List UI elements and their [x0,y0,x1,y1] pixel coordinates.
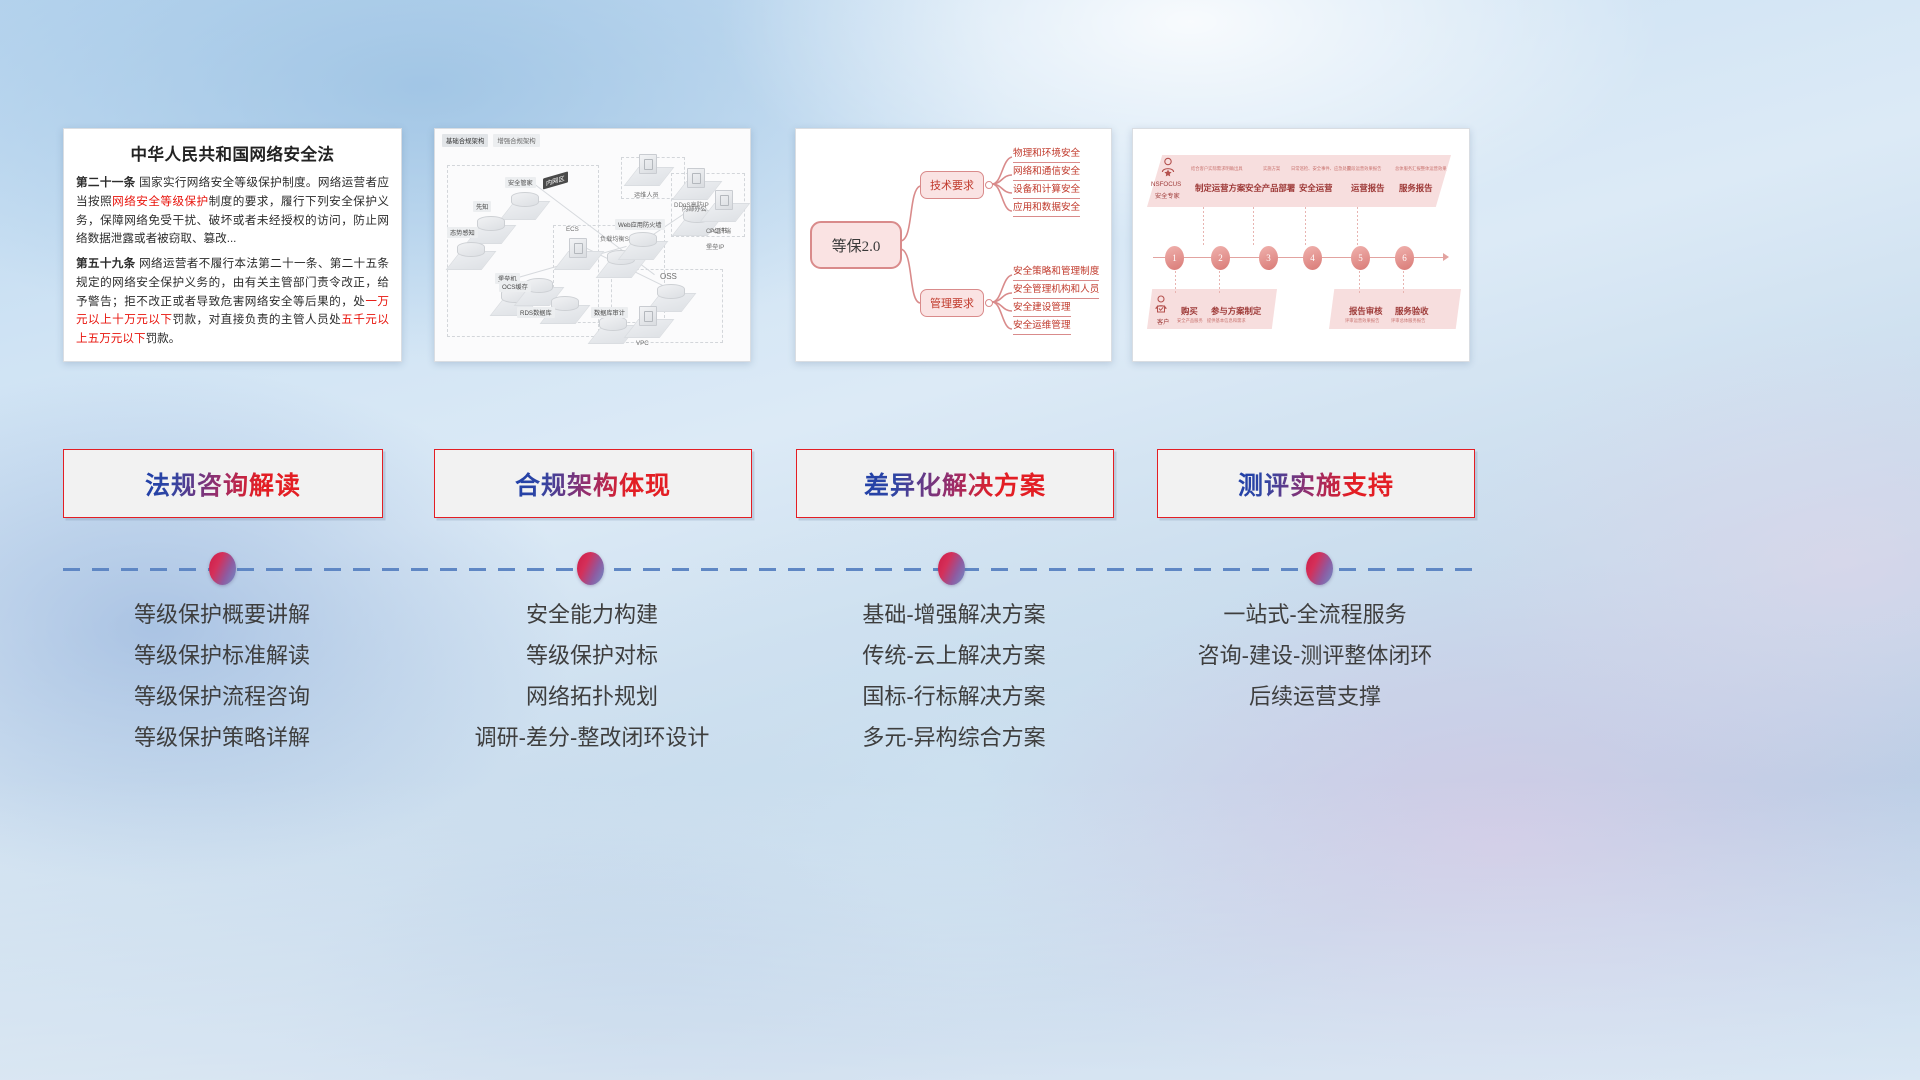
timeline-dot-1[interactable] [577,552,604,585]
arch-node-label: 安全管家 [505,177,536,188]
nsfocus-step-number[interactable]: 2 [1211,246,1230,270]
arch-node-oss: OSS [653,293,689,312]
arch-node-label: ECS [563,225,582,234]
nsfocus-step-sub: 总体服务汇报整体运营效果 [1395,166,1447,172]
nsfocus-step-main: 安全产品部署 [1245,182,1295,194]
arch-node-slb: 负载均衡SLB [603,259,639,278]
expert-person-icon [1159,157,1177,177]
arch-node-rds: RDS数据库 [547,305,583,324]
mindmap-leaf: 安全策略和管理制度 [1013,266,1099,281]
mindmap-branch-management[interactable]: 管理要求 [920,289,984,317]
pillar-title-box-1[interactable]: 合规架构体现 [434,449,752,518]
law-article-21-label: 第二十一条 [76,176,136,189]
law-article-59: 第五十九条 网络运营者不履行本法第二十一条、第二十五条规定的网络安全保护义务的，… [76,255,389,349]
arch-node-taishiganzhi: 态势感知 [453,251,489,270]
list-item: 调研-差分-整改闭环设计 [434,727,750,749]
mindmap-collapse-dot-management[interactable] [985,299,993,307]
mindmap-leaf: 设备和计算安全 [1013,184,1080,199]
architecture-tab-basic[interactable]: 基础合规架构 [442,134,488,147]
nsfocus-tick [1203,207,1204,247]
law-article-21: 第二十一条 国家实行网络安全等级保护制度。网络运营者应当按照网络安全等级保护制度… [76,174,389,249]
card-nsfocus-operation-flow[interactable]: NSFOCUS 安全专家 结合客户实际需求明确出具 制定运营方案 实施方案 安全… [1132,128,1470,362]
pillar-items-column-1: 安全能力构建 等级保护对标 网络拓扑规划 调研-差分-整改闭环设计 [434,604,750,768]
nsfocus-tick [1219,271,1220,293]
nsfocus-step-number[interactable]: 3 [1259,246,1278,270]
mindmap-leaf: 物理和环境安全 [1013,148,1080,163]
nsfocus-step-main: 服务报告 [1399,182,1433,194]
list-item: 传统-云上解决方案 [796,645,1112,667]
nsfocus-tick [1359,271,1360,293]
nsfocus-customer-label: 客户 [1157,317,1169,326]
timeline-dot-0[interactable] [209,552,236,585]
list-item: 一站式-全流程服务 [1157,604,1473,626]
nsfocus-step-number[interactable]: 6 [1395,246,1414,270]
mindmap-leaf: 安全运维管理 [1013,320,1071,335]
arch-node-label: 运维人员 [631,189,662,200]
mindmap-leaf: 应用和数据安全 [1013,202,1080,217]
pillar-title-text: 法规咨询解读 [145,466,301,502]
arch-node-office: 内部办公 [679,181,715,200]
arch-node-label: 内部办公 [679,203,710,214]
arch-node-anquanguanjia: 安全管家 [507,201,543,220]
list-item: 基础-增强解决方案 [796,604,1112,626]
nsfocus-top-band [1147,155,1451,207]
nsfocus-brand-line-2: 安全专家 [1155,191,1180,200]
mindmap-branch-technical[interactable]: 技术要求 [920,171,984,199]
timeline-dot-3[interactable] [1306,552,1333,585]
arch-node-label: Web应用防火墙 [615,219,665,230]
nsfocus-bottom-main: 服务验收 [1395,305,1429,317]
pillar-title-text: 合规架构体现 [515,466,671,502]
nsfocus-timeline-arrow-icon [1443,253,1449,261]
nsfocus-bottom-main: 购买 [1181,305,1198,317]
arch-node-label: 先知 [473,201,491,212]
arch-node-xianzhi: 先知 [473,225,509,244]
pillar-items-column-3: 一站式-全流程服务 咨询-建设-测评整体闭环 后续运营支撑 [1157,604,1473,727]
nsfocus-bottom-sub: 提供基本信息和需求 [1207,318,1246,324]
law-article-21-highlight: 网络安全等级保护 [112,195,208,208]
list-item: 网络拓扑规划 [434,686,750,708]
arch-node-label: 态势感知 [447,227,478,238]
arch-node-ops: 运维人员 [631,167,667,186]
nsfocus-step-main: 制定运营方案 [1195,182,1245,194]
nsfocus-step-sub: 实施方案 [1263,166,1280,172]
arch-node-label: PC终端 [707,225,734,236]
list-item: 等级保护对标 [434,645,750,667]
list-item: 多元-异构综合方案 [796,727,1112,749]
mindmap-collapse-dot-technical[interactable] [985,181,993,189]
timeline-dot-2[interactable] [938,552,965,585]
list-item: 等级保护标准解读 [63,645,381,667]
list-item: 咨询-建设-测评整体闭环 [1157,645,1473,667]
pillar-title-text: 差异化解决方案 [864,466,1046,502]
nsfocus-tick [1175,271,1176,293]
list-item: 等级保护流程咨询 [63,686,381,708]
nsfocus-bottom-sub: 评审运营效果报告 [1345,318,1379,324]
nsfocus-bottom-main: 参与方案制定 [1211,305,1261,317]
nsfocus-tick [1357,207,1358,247]
nsfocus-step-number[interactable]: 5 [1351,246,1370,270]
nsfocus-bottom-main: 报告审核 [1349,305,1383,317]
arch-node-label: 堡垒IP [703,241,727,252]
law-article-59-text-2: 罚款，对直接负责的主管人员处 [172,313,341,326]
architecture-tab-group[interactable]: 基础合规架构 增强合规架构 [442,134,540,147]
pillar-title-text: 测评实施支持 [1238,466,1394,502]
list-item: 等级保护概要讲解 [63,604,381,626]
nsfocus-tick [1305,207,1306,247]
arch-node-ecs: ECS [561,251,597,270]
card-cybersecurity-law[interactable]: 中华人民共和国网络安全法 第二十一条 国家实行网络安全等级保护制度。网络运营者应… [63,128,402,362]
mindmap-leaf: 安全管理机构和人员 [1013,284,1099,299]
mindmap-root-node[interactable]: 等保2.0 [810,221,902,269]
list-item: 等级保护策略详解 [63,727,381,749]
timeline-dashed-line [63,568,1472,571]
card-compliance-architecture[interactable]: 基础合规架构 增强合规架构 内网区 安全管家 先知 态势感知 [434,128,751,362]
nsfocus-tick [1253,207,1254,247]
nsfocus-bottom-sub: 安全产品服务 [1177,318,1203,324]
card-dengbao-mindmap[interactable]: 等保2.0 技术要求 物理和环境安全 网络和通信安全 设备和计算安全 应用和数据… [795,128,1112,362]
arch-node-label: OCS缓存 [499,281,531,292]
arch-node-pc: PC终端 [707,203,743,222]
nsfocus-step-sub: 结合客户实际需求明确出具 [1191,166,1243,172]
pillar-title-box-0[interactable]: 法规咨询解读 [63,449,383,518]
customer-person-icon [1153,295,1169,313]
architecture-tab-enhanced[interactable]: 增强合规架构 [493,134,539,147]
nsfocus-brand-line-1: NSFOCUS [1151,181,1181,188]
nsfocus-step-sub: 日常巡检、安全事件、应急处置 [1291,166,1351,172]
arch-node-label: OSS [657,271,680,282]
nsfocus-step-sub: 阶段运营效果报告 [1347,166,1381,172]
law-card-title: 中华人民共和国网络安全法 [76,141,389,165]
pillar-title-box-3[interactable]: 测评实施支持 [1157,449,1475,518]
nsfocus-step-main: 安全运营 [1299,182,1333,194]
nsfocus-step-number[interactable]: 1 [1165,246,1184,270]
list-item: 国标-行标解决方案 [796,686,1112,708]
pillar-items-column-0: 等级保护概要讲解 等级保护标准解读 等级保护流程咨询 等级保护策略详解 [63,604,381,768]
arch-node-waf: Web应用防火墙 [625,241,661,260]
nsfocus-step-number[interactable]: 4 [1303,246,1322,270]
nsfocus-bottom-sub: 评审总体服务报告 [1391,318,1425,324]
arch-node-label: RDS数据库 [517,307,555,318]
list-item: 后续运营支撑 [1157,686,1473,708]
nsfocus-tick [1403,271,1404,293]
mindmap-leaf: 网络和通信安全 [1013,166,1080,181]
law-article-59-text-3: 罚款。 [146,332,181,345]
arch-node-label: 数据库审计 [591,307,628,318]
list-item: 安全能力构建 [434,604,750,626]
nsfocus-step-main: 运营报告 [1351,182,1385,194]
arch-node-vpc: VPC [631,319,667,338]
pillar-items-column-2: 基础-增强解决方案 传统-云上解决方案 国标-行标解决方案 多元-异构综合方案 [796,604,1112,768]
mindmap-leaf: 安全建设管理 [1013,302,1071,317]
pillar-title-box-2[interactable]: 差异化解决方案 [796,449,1114,518]
law-article-59-label: 第五十九条 [76,257,136,270]
arch-node-label: VPC [633,339,652,348]
